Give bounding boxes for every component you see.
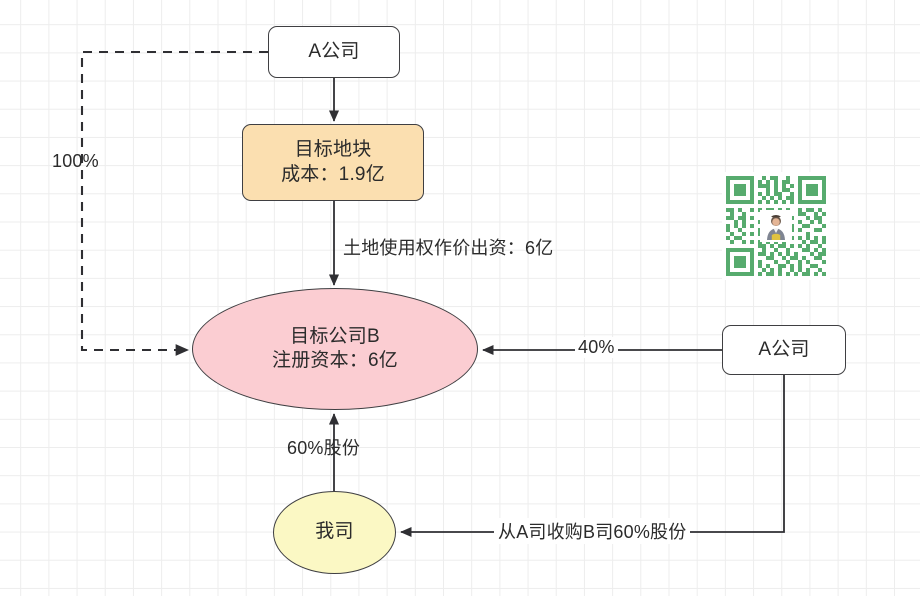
- edge-label-40-percent: 40%: [575, 337, 618, 358]
- diagram-canvas: A公司 目标地块 成本：1.9亿 目标公司B 注册资本：6亿 我司 A公司 10…: [0, 0, 920, 596]
- node-company-a-right[interactable]: A公司: [722, 325, 846, 375]
- node-target-company-b-title: 目标公司B: [290, 325, 380, 349]
- qr-code[interactable]: [722, 172, 830, 280]
- edge-label-60-percent-shares: 60%股份: [287, 434, 360, 460]
- edge-label-acquire-shares: 从A司收购B司60%股份: [494, 518, 690, 544]
- node-company-a-top-label: A公司: [308, 40, 359, 64]
- edge-label-100-percent: 100%: [52, 151, 99, 172]
- node-target-company-b[interactable]: 目标公司B 注册资本：6亿: [192, 288, 478, 410]
- node-our-company[interactable]: 我司: [273, 491, 396, 574]
- node-target-parcel-cost: 成本：1.9亿: [281, 163, 385, 187]
- node-our-company-label: 我司: [315, 520, 353, 544]
- node-target-company-b-capital: 注册资本：6亿: [272, 349, 398, 373]
- edge-company-a-right-to-our-company: [401, 375, 784, 532]
- node-company-a-right-label: A公司: [758, 338, 809, 362]
- node-target-parcel[interactable]: 目标地块 成本：1.9亿: [242, 124, 424, 201]
- node-company-a-top[interactable]: A公司: [268, 26, 400, 78]
- diagram-edges: [0, 0, 920, 596]
- node-target-parcel-title: 目标地块: [295, 138, 372, 162]
- edge-label-land-use-right-contribution: 土地使用权作价出资：6亿: [343, 234, 553, 260]
- person-avatar-icon: [760, 210, 792, 242]
